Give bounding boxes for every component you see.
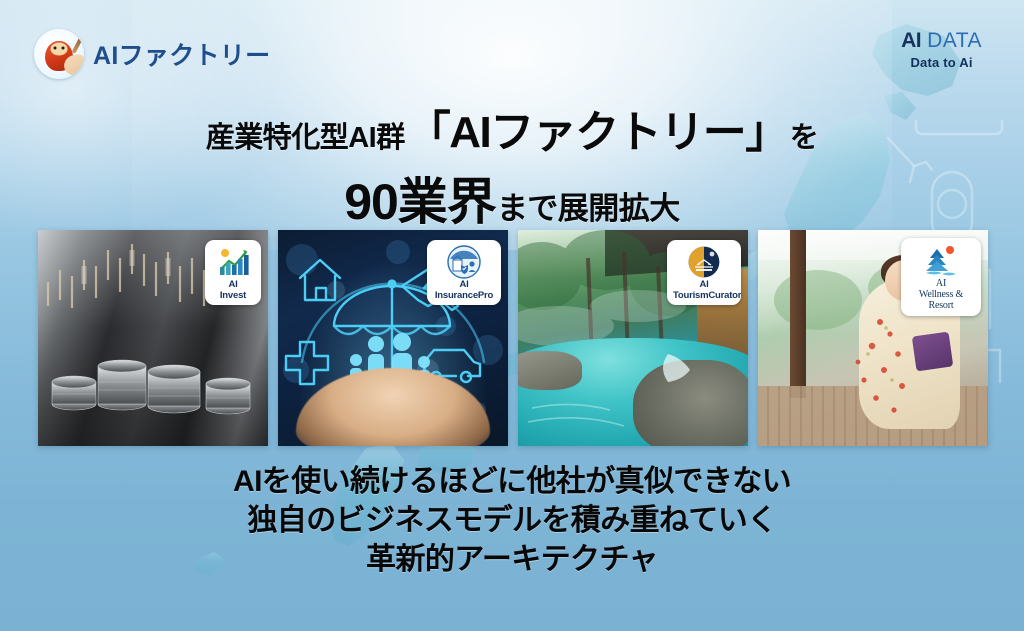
- daruma-doll-icon: TM: [34, 29, 84, 79]
- brand-logo-right[interactable]: AI DATA Data to Ai: [901, 30, 982, 69]
- aidata-data-text: DATA: [927, 30, 982, 51]
- brand-name-left: AIファクトリー: [93, 36, 270, 72]
- badge-ai-invest[interactable]: AI Invest: [205, 240, 261, 305]
- industry-card-row: AI Invest: [38, 230, 988, 446]
- pine-tree-sun-water-icon: [924, 243, 958, 277]
- page-title: 産業特化型AI群 「AIファクトリー」 を 90業界 まで展開拡大: [0, 96, 1024, 234]
- headline-prefix: 産業特化型AI群: [206, 114, 405, 156]
- badge-label: AI Invest: [211, 280, 255, 301]
- card-ai-invest[interactable]: AI Invest: [38, 230, 268, 446]
- aidata-ai-text: AI: [901, 30, 921, 51]
- card-ai-insurancepro[interactable]: AI InsurancePro: [278, 230, 508, 446]
- insurance-shield-family-icon: [447, 245, 481, 279]
- badge-label: AI InsurancePro: [433, 280, 495, 301]
- brand-logo-left[interactable]: TM AIファクトリー: [34, 29, 270, 79]
- headline-suffix: を: [790, 114, 819, 156]
- headline-main: 「AIファクトリー」: [407, 96, 788, 160]
- globe-temple-icon: [687, 245, 721, 279]
- headline-number: 90業界: [344, 162, 496, 234]
- badge-ai-insurancepro[interactable]: AI InsurancePro: [427, 240, 501, 305]
- bottom-tagline-line2: 独自のビジネスモデルを積み重ねていく: [0, 501, 1024, 540]
- badge-ai-wellness-resort[interactable]: AI Wellness & Resort: [901, 238, 981, 316]
- bottom-tagline-line1: AIを使い続けるほどに他社が真似できない: [0, 462, 1024, 501]
- aidata-tagline: Data to Ai: [901, 56, 982, 69]
- badge-label: AI TourismCurator: [673, 280, 735, 301]
- bottom-tagline-line3: 革新的アーキテクチャ: [0, 540, 1024, 579]
- headline-line2-suffix: まで展開拡大: [497, 183, 680, 228]
- bar-chart-growth-icon: [216, 245, 250, 279]
- slide-root: TM AIファクトリー AI DATA Data to Ai 産業特化型AI群 …: [0, 0, 1024, 631]
- badge-ai-tourismcurator[interactable]: AI TourismCurator: [667, 240, 741, 305]
- bottom-tagline-block: AIを使い続けるほどに他社が真似できない 独自のビジネスモデルを積み重ねていく …: [0, 462, 1024, 579]
- card-ai-tourismcurator[interactable]: AI TourismCurator: [518, 230, 748, 446]
- card-ai-wellness-resort[interactable]: AI Wellness & Resort: [758, 230, 988, 446]
- badge-label: AI Wellness & Resort: [907, 278, 975, 312]
